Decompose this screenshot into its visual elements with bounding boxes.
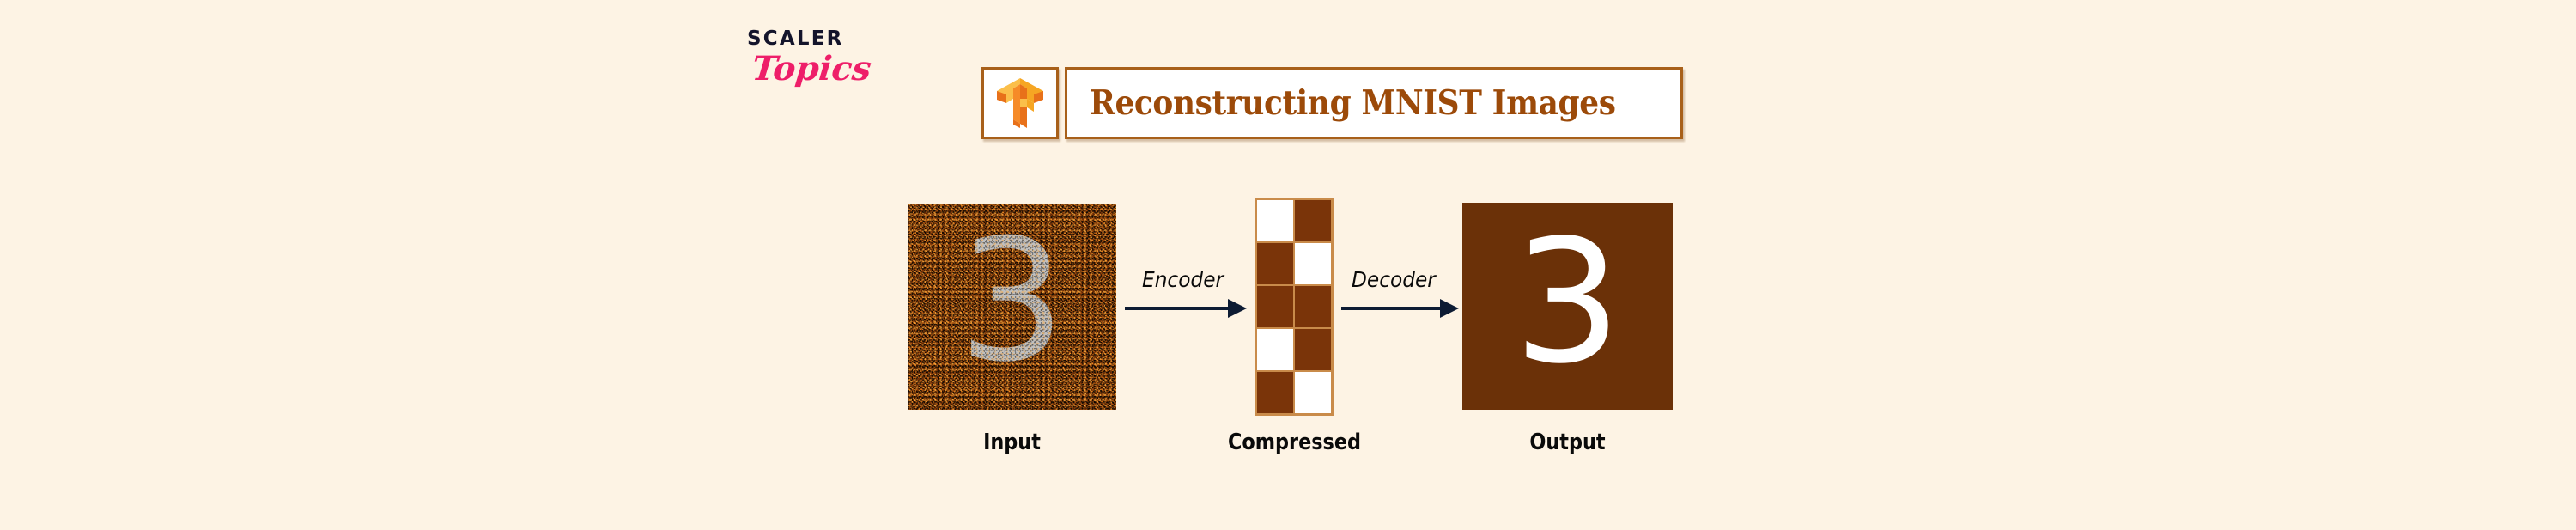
input-label: Input [922,429,1102,455]
encoder-arrow-head-icon [1228,299,1247,318]
input-image: 3 [908,204,1116,410]
encoder-arrow-line [1125,307,1230,310]
decoder-arrow-line [1341,307,1443,310]
latent-cell [1294,328,1332,371]
output-label: Output [1477,429,1658,455]
compressed-latent-grid [1255,198,1334,416]
latent-cell [1294,242,1332,285]
latent-cell [1294,199,1332,242]
latent-cell [1256,328,1294,371]
latent-cell [1256,199,1294,242]
latent-cell [1294,285,1332,328]
latent-cell [1256,242,1294,285]
autoencoder-diagram: 3 3 Encoder Decoder Input Compressed Out… [0,0,2576,530]
encoder-arrow-label: Encoder [1142,267,1224,292]
output-image: 3 [1462,203,1673,410]
decoder-arrow-head-icon [1440,299,1459,318]
input-noise-overlay [908,204,1116,410]
compressed-label: Compressed [1204,429,1385,455]
decoder-arrow-label: Decoder [1352,267,1436,292]
latent-cell [1294,371,1332,414]
latent-cell [1256,371,1294,414]
output-digit-glyph: 3 [1514,217,1622,387]
latent-cell [1256,285,1294,328]
